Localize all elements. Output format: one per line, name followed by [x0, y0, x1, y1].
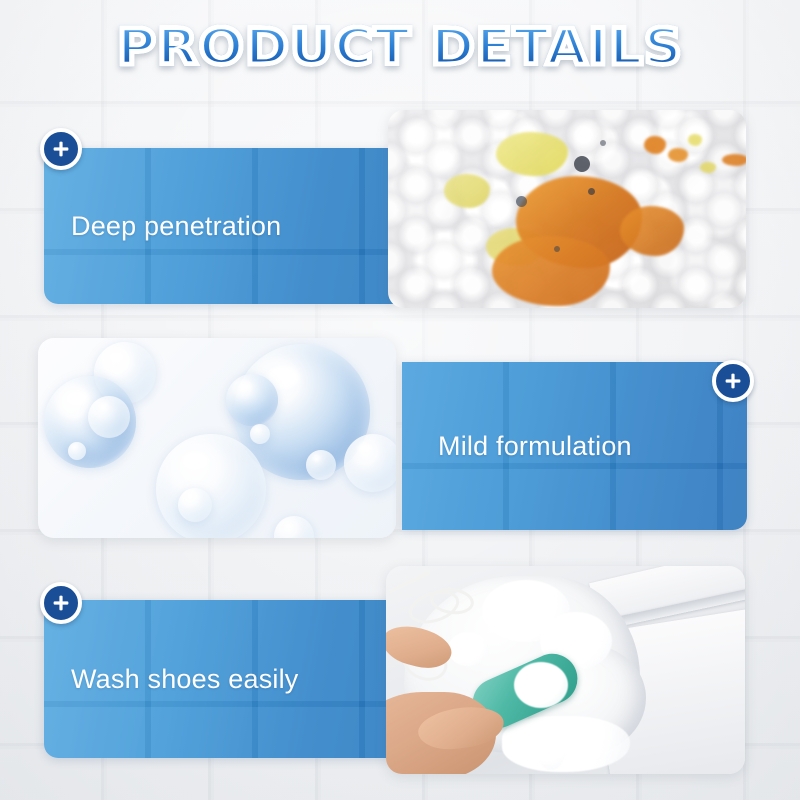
foam-drip: [536, 726, 566, 770]
bubble-small-right: [306, 450, 336, 480]
soap-bubbles-photo: [38, 338, 396, 538]
feature-card-deep-penetration[interactable]: Deep penetration: [44, 148, 394, 304]
plus-icon[interactable]: [712, 360, 754, 402]
stain-orange-chip-1: [644, 136, 666, 154]
page-title: PRODUCT DETAILS: [117, 22, 683, 72]
bubble-tiny-2: [178, 488, 212, 522]
bubble-tiny-1: [250, 424, 270, 444]
stain-yellow-2: [444, 174, 490, 208]
stain-yellow-1: [496, 132, 568, 176]
plus-icon[interactable]: [40, 582, 82, 624]
foam-blob-4: [448, 632, 488, 666]
stain-yellow-chip-2: [700, 162, 716, 173]
sneaker-sole-foam: [502, 716, 630, 772]
bubble-right-edge: [344, 434, 396, 492]
brush-foam: [514, 662, 568, 708]
stain-orange-chip-2: [668, 148, 688, 162]
bubble-large-bottom-center: [156, 434, 266, 538]
detergent-fibers-stain-photo: [388, 110, 746, 308]
feature-label-deep-penetration: Deep penetration: [71, 211, 281, 242]
speck-5: [554, 246, 560, 252]
feature-label-wash-shoes-easily: Wash shoes easily: [71, 664, 299, 695]
bubble-small-mid: [226, 374, 278, 426]
bubble-mid-overlap-left: [88, 396, 130, 438]
shoe-cleaning-photo: [386, 566, 745, 774]
bubble-tiny-4: [68, 442, 86, 460]
speck-2: [516, 196, 527, 207]
feature-label-mild-formulation: Mild formulation: [438, 431, 632, 462]
speck-1: [574, 156, 590, 172]
feature-card-wash-shoes-easily[interactable]: Wash shoes easily: [44, 600, 394, 758]
feature-card-mild-formulation[interactable]: Mild formulation: [402, 362, 747, 530]
speck-4: [600, 140, 606, 146]
speck-3: [588, 188, 595, 195]
stain-orange-chip-3: [722, 154, 746, 166]
page-title-container: PRODUCT DETAILS: [0, 22, 800, 72]
plus-icon[interactable]: [40, 128, 82, 170]
stain-orange-right: [620, 206, 684, 256]
stain-yellow-chip-1: [688, 134, 702, 146]
